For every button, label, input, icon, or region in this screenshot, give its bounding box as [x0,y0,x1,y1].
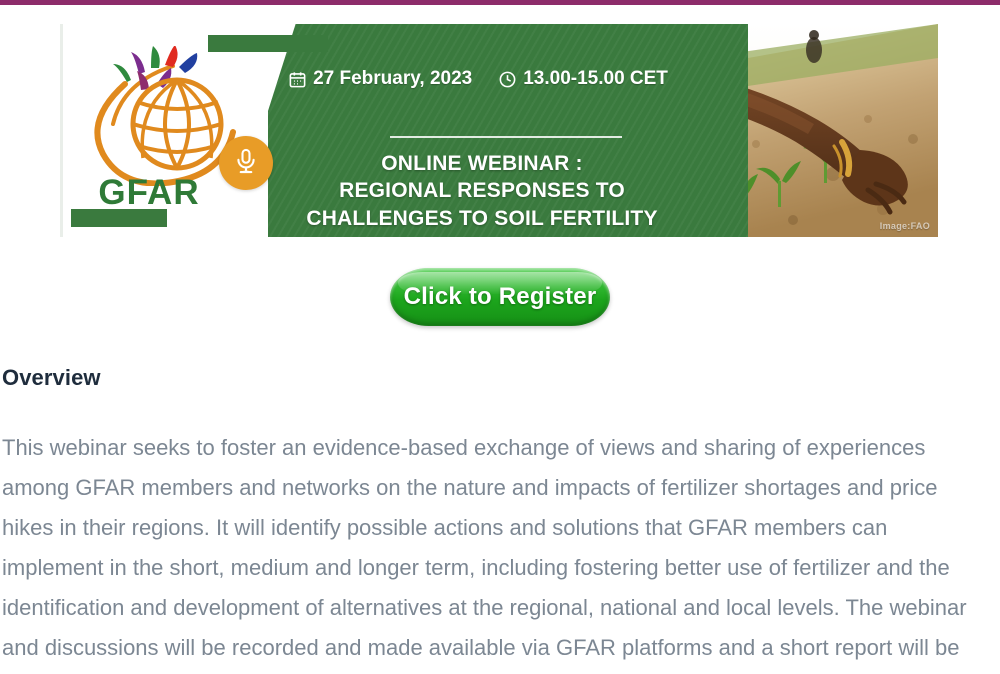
calendar-icon [288,70,307,89]
page-root: Image:FAO [0,0,1000,674]
webinar-title-line-1: ONLINE WEBINAR : [256,150,708,177]
webinar-title-line-4: AND SUSTAINABILITY [256,232,708,237]
click-to-register-button[interactable]: Click to Register [390,268,610,326]
webinar-title-line-3: CHALLENGES TO SOIL FERTILITY [256,205,708,232]
banner-meta-row: 27 February, 2023 13.00-15.00 CET [268,68,688,90]
logo-panel: GFAR [60,24,268,237]
gfar-wordmark: GFAR [63,173,235,213]
webinar-title-line-2: REGIONAL RESPONSES TO [256,177,708,204]
banner-date: 27 February, 2023 [288,68,472,90]
banner-time: 13.00-15.00 CET [498,68,668,90]
clock-icon [498,70,517,89]
banner-time-text: 13.00-15.00 CET [523,68,668,90]
photo-credit: Image:FAO [880,221,930,231]
banner-divider [390,136,622,138]
webinar-title: ONLINE WEBINAR : REGIONAL RESPONSES TO C… [256,150,708,237]
top-accent-rule [0,0,1000,5]
logo-accent-bar-top [208,35,328,52]
overview-paragraph: This webinar seeks to foster an evidence… [2,428,988,674]
banner-date-text: 27 February, 2023 [313,68,472,90]
microphone-badge [219,136,273,190]
overview-heading: Overview [2,365,101,391]
logo-accent-bar-bottom [71,209,167,227]
microphone-icon [232,147,260,180]
webinar-banner: Image:FAO [60,24,938,237]
